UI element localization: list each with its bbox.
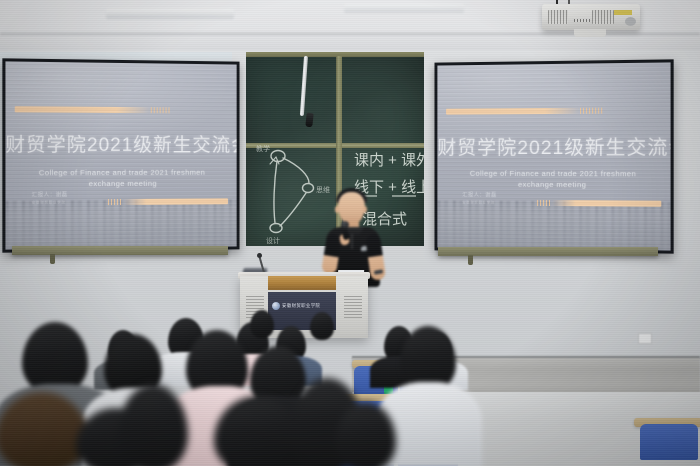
screen-rail-drop-left xyxy=(50,254,55,264)
audience-head-m8 xyxy=(310,312,334,340)
slide-subtitle-line-1: College of Finance and trade 2021 freshm… xyxy=(25,166,219,178)
slide-byline: 汇报人：谢磊 安徽财贸职业学院 xyxy=(32,190,68,204)
chalk-note-line-1: 课内 + 课外 xyxy=(354,152,424,169)
podium-institution-name: 安徽财贸职业学院 xyxy=(282,303,320,309)
lecture-hall-photo: 教学 思维 设计 课内 + 课外 线下 + 线上 混合式 财贸学院2021级新生… xyxy=(0,0,700,466)
screen-rail-drop-right xyxy=(468,255,473,265)
projection-screen-left: 财贸学院2021级新生交流会 College of Finance and tr… xyxy=(2,58,239,252)
wall-socket-icon xyxy=(638,333,652,344)
slide-right: 财贸学院2021级新生交流会 College of Finance and tr… xyxy=(437,62,670,250)
ceiling-light-fixture-2 xyxy=(344,4,464,13)
microphone-head-icon xyxy=(341,221,349,228)
podium-speaker-grill-right xyxy=(344,296,362,320)
slide-subtitle: College of Finance and trade 2021 freshm… xyxy=(25,166,219,190)
school-crest-icon xyxy=(272,302,280,310)
chalk-label-bottom: 设计 xyxy=(266,236,280,245)
chalk-label-top: 教学 xyxy=(256,144,270,153)
slide-byline-right: 汇报人：谢磊 安徽财贸职业学院 xyxy=(462,190,496,204)
slide-byline-org: 安徽财贸职业学院 xyxy=(32,199,68,204)
seat-back-far-right xyxy=(640,424,698,460)
slide-cityscape-image xyxy=(5,199,236,249)
speaker-ear-left xyxy=(335,206,339,213)
ceiling-light-fixture xyxy=(106,9,234,19)
slide-subtitle-right: College of Finance and trade 2021 freshm… xyxy=(455,167,651,191)
podium-wood-trim xyxy=(268,276,336,290)
podium-mic-head-icon xyxy=(257,253,262,258)
slide-byline-presenter-right: 汇报人：谢磊 xyxy=(462,192,496,198)
projector-vent-left xyxy=(548,10,568,24)
slide-byline-presenter: 汇报人：谢磊 xyxy=(32,192,68,198)
slide-left: 财贸学院2021级新生交流会 College of Finance and tr… xyxy=(5,61,236,249)
slide-cityscape-image-right xyxy=(437,200,670,250)
ceiling-projector xyxy=(542,4,640,30)
audience-head-m7 xyxy=(250,310,274,338)
projector-label-sticker xyxy=(614,10,632,15)
projector-mount xyxy=(574,29,606,37)
speaker-shirt-placket xyxy=(351,234,353,249)
projection-screen-right: 财贸学院2021级新生交流会 College of Finance and tr… xyxy=(435,59,674,253)
blackboard-top-trim xyxy=(246,52,424,57)
screen-rail-left xyxy=(12,246,228,255)
projector-lens-icon xyxy=(625,17,636,26)
slide-title: 财贸学院2021级新生交流会 xyxy=(5,129,236,156)
projector-vent-right xyxy=(592,10,614,24)
projector-buttons[interactable] xyxy=(574,19,590,22)
slide-subtitle-right-line-1: College of Finance and trade 2021 freshm… xyxy=(455,167,651,179)
speaker-ear-right xyxy=(363,206,367,213)
slide-byline-org-right: 安徽财贸职业学院 xyxy=(462,199,496,204)
podium-institution-plate: 安徽财贸职业学院 xyxy=(272,300,332,311)
slide-subtitle-line-2: exchange meeting xyxy=(25,178,219,191)
slide-title-right: 财贸学院2021级新生交流会 xyxy=(437,130,670,160)
